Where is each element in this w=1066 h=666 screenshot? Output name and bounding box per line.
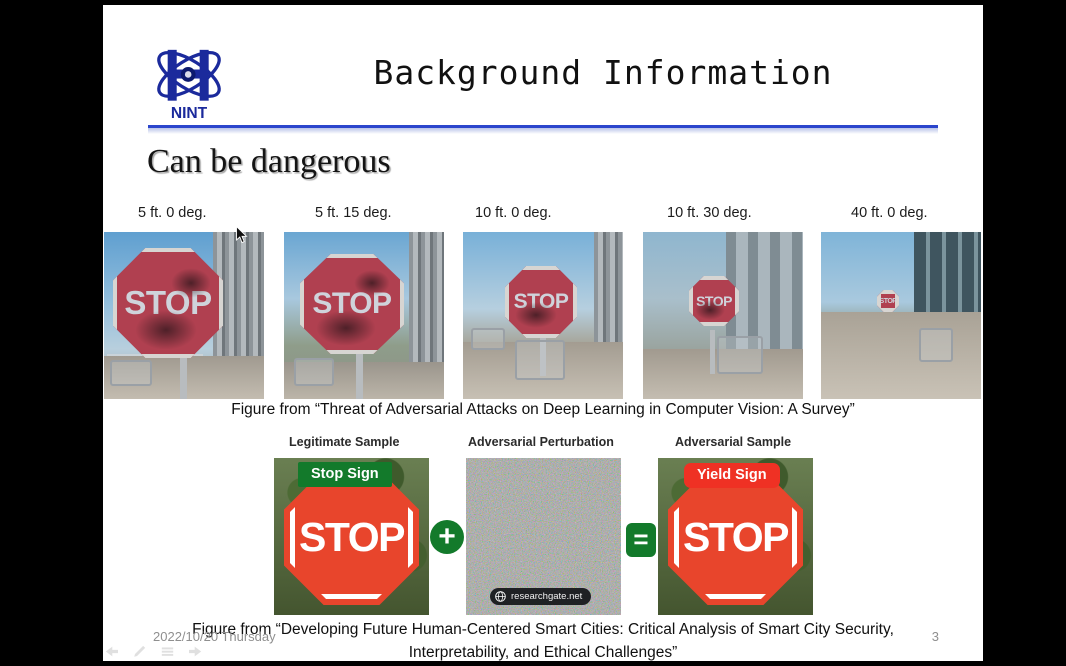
slide-canvas: NINT Background Information Can be dange… [103,5,983,661]
equals-operator-symbol: = [633,528,648,551]
sign-text: STOP [312,287,391,321]
figure2-caption-line2: Interpretability, and Ethical Challenges… [109,641,977,661]
figure2-label-adversarial: Adversarial Sample [675,435,791,449]
legitimate-sample-panel: STOP Stop Sign [274,458,429,615]
sign-text: STOP [299,514,404,561]
globe-icon [495,591,506,602]
stop-sign-photo-2: STOP [284,232,444,399]
figure2-label-row: Legitimate Sample Adversarial Perturbati… [103,435,983,453]
stop-sign-photo-4: STOP [643,232,803,399]
title-divider [148,125,938,135]
slide-menu-icon[interactable] [161,645,174,658]
sign-text: STOP [880,298,897,305]
adversarial-sample-panel: STOP Yield Sign [658,458,813,615]
presentation-viewer: NINT Background Information Can be dange… [0,0,1066,666]
photo-label-5: 40 ft. 0 deg. [851,205,928,221]
stop-sign-photo-3: STOP [463,232,623,399]
sign-text: STOP [696,293,732,309]
slide-number: 3 [932,629,939,644]
logo-text: NINT [171,105,208,122]
sign-text: STOP [514,290,569,314]
equals-operator: = [626,523,656,557]
presentation-toolbar[interactable] [105,645,202,658]
status-badge-yield-sign: Yield Sign [684,463,780,488]
status-badge-stop-sign: Stop Sign [298,462,392,487]
plus-operator: + [430,520,464,554]
figure2-label-legitimate: Legitimate Sample [289,435,399,449]
photo-label-4: 10 ft. 30 deg. [667,205,752,221]
watermark-text: researchgate.net [511,591,582,602]
pen-tool-icon[interactable] [133,645,146,658]
figure2-label-perturbation: Adversarial Perturbation [468,435,614,449]
photo-label-2: 5 ft. 15 deg. [315,205,392,221]
sign-text: STOP [683,514,788,561]
page-title: Background Information [253,53,953,92]
slide-subtitle: Can be dangerous [147,143,391,181]
next-slide-icon[interactable] [189,645,202,658]
stop-sign-photo-5: STOP [821,232,981,399]
researchgate-watermark: researchgate.net [490,588,591,605]
adversarial-perturbation-panel: researchgate.net [466,458,621,615]
photo-label-row: 5 ft. 0 deg. 5 ft. 15 deg. 10 ft. 0 deg.… [103,205,983,227]
plus-operator-symbol: + [438,525,456,549]
photo-label-1: 5 ft. 0 deg. [138,205,207,221]
previous-slide-icon[interactable] [105,645,118,658]
slide-date: 2022/10/20 Thursday [153,629,276,644]
photo-label-3: 10 ft. 0 deg. [475,205,552,221]
sign-text: STOP [124,284,211,322]
figure1-caption: Figure from “Threat of Adversarial Attac… [103,401,983,419]
mouse-cursor [236,226,248,244]
stop-sign-photo-1: STOP [104,232,264,399]
nint-atom-logo: NINT [148,40,230,122]
